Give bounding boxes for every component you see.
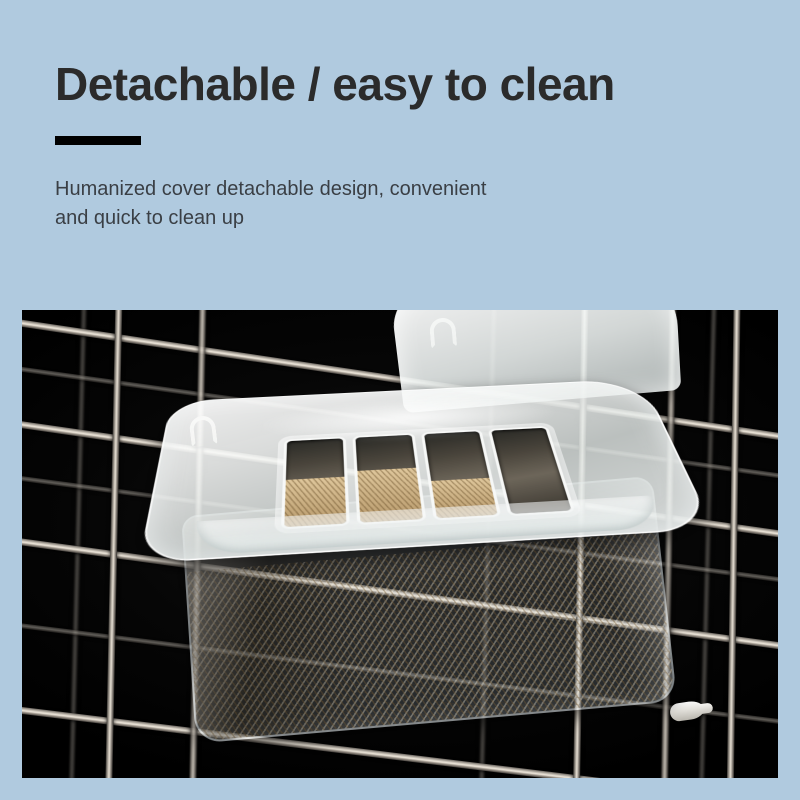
bird-feeder <box>160 334 680 734</box>
feature-description: Humanized cover detachable design, conve… <box>55 175 655 233</box>
product-photo <box>22 310 778 778</box>
feature-description-line-1: Humanized cover detachable design, conve… <box>55 175 655 204</box>
cover-slot-3 <box>424 431 498 518</box>
title-accent-rule <box>55 136 141 145</box>
feature-text-block: Detachable / easy to clean Humanized cov… <box>55 60 775 233</box>
page-title: Detachable / easy to clean <box>55 60 775 110</box>
feature-description-line-2: and quick to clean up <box>55 204 655 233</box>
